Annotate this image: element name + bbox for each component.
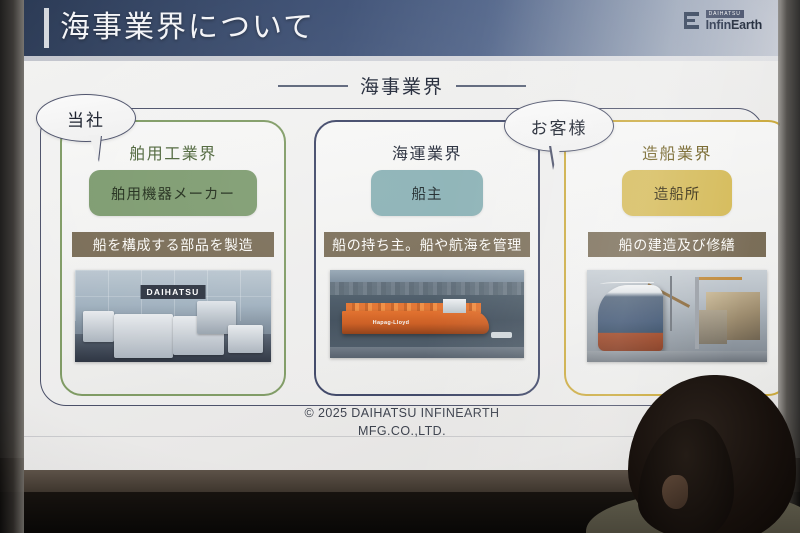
company-logo: DAIHATSU InfinEarth — [684, 10, 762, 32]
heading-rule-left — [278, 85, 348, 87]
title-accent-bar — [44, 8, 49, 48]
column-photo-shipyard — [587, 270, 767, 362]
bubble-tail — [551, 145, 561, 169]
audience-head-silhouette — [596, 358, 800, 533]
logo-wordmark: DAIHATSU InfinEarth — [706, 10, 762, 32]
column-marine-equipment: 舶用工業界 舶用機器メーカー 船を構成する部品を製造 DAIHATSU — [60, 120, 286, 396]
photo-sign-text: DAIHATSU — [141, 285, 206, 299]
photo-ship-brand: Hapag-Lloyd — [373, 320, 410, 326]
infinearth-mark-icon — [684, 11, 701, 30]
column-role-pill: 舶用機器メーカー — [89, 170, 257, 216]
column-heading: 海運業界 — [316, 140, 538, 164]
column-role-pill: 船主 — [371, 170, 483, 216]
bubble-label: お客様 — [531, 114, 588, 139]
bubble-customer: お客様 — [504, 100, 614, 152]
column-description-bar: 船の建造及び修繕 — [588, 232, 766, 257]
bubble-our-company: 当社 — [36, 94, 136, 142]
logo-main-a: Infin — [706, 18, 731, 32]
slide-title-bar: 海事業界について — [24, 0, 780, 56]
title-underline — [24, 56, 780, 61]
bubble-tail — [89, 135, 101, 161]
column-description-bar: 船を構成する部品を製造 — [72, 232, 274, 257]
section-heading-text: 海事業界 — [360, 72, 444, 99]
column-role-pill: 造船所 — [622, 170, 732, 216]
column-photo-container-ship: Hapag-Lloyd — [330, 270, 524, 358]
heading-rule-right — [456, 85, 526, 87]
bubble-label: 当社 — [67, 106, 105, 131]
logo-sub-text: DAIHATSU — [706, 10, 744, 18]
column-photo-engines: DAIHATSU — [75, 270, 271, 362]
projected-slide-photo: 海事業界について DAIHATSU InfinEarth 海事業界 舶用工業界 … — [0, 0, 800, 533]
room-left-edge — [0, 0, 24, 533]
column-description-bar: 船の持ち主。船や航海を管理 — [324, 232, 530, 257]
logo-main-text: InfinEarth — [706, 19, 762, 32]
slide-title: 海事業界について — [60, 5, 315, 51]
column-shipbuilding: 造船業界 造船所 船の建造及び修繕 — [564, 120, 780, 396]
section-heading: 海事業界 — [24, 72, 780, 99]
column-shipping: 海運業界 船主 船の持ち主。船や航海を管理 Hapag-Lloyd — [314, 120, 540, 396]
logo-main-b: Earth — [731, 18, 762, 32]
